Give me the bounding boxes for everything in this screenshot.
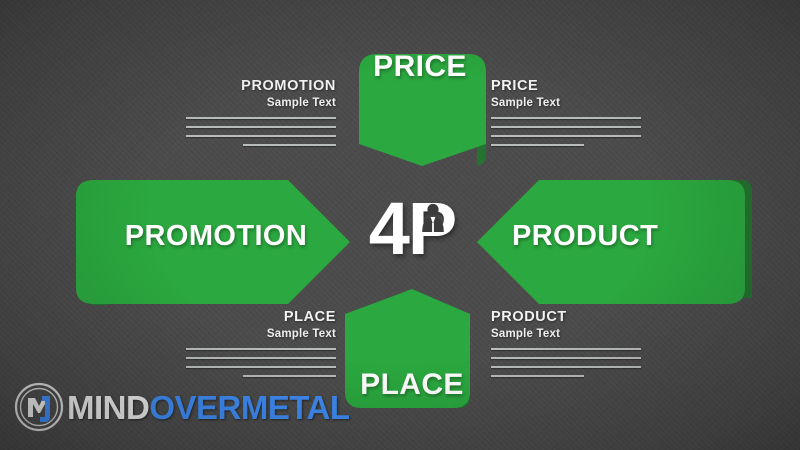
center-logo-4p: 4P (352, 186, 472, 272)
caption-rule (491, 348, 641, 350)
businessman-icon (420, 202, 446, 232)
caption-rule (491, 366, 641, 368)
caption-title: PRICE (491, 78, 641, 95)
caption-subtitle: Sample Text (186, 97, 336, 110)
slide-canvas: PRICE PROMOTION PRODUCT PLACE 4P PROMOTI… (0, 0, 800, 450)
banner-label-product: PRODUCT (512, 220, 752, 253)
watermark-logo[interactable]: MINDOVERMETAL (14, 381, 350, 433)
banner-label-place: PLACE (337, 368, 487, 402)
caption-place: PLACE Sample Text (186, 309, 336, 384)
caption-rule-group (186, 348, 336, 377)
mindovermetal-badge-icon (14, 382, 64, 432)
caption-rule (491, 135, 641, 137)
banner-label-promotion: PROMOTION (96, 220, 336, 253)
caption-rule (243, 144, 336, 146)
caption-rule-group (491, 117, 641, 146)
caption-subtitle: Sample Text (491, 97, 641, 110)
caption-subtitle: Sample Text (186, 328, 336, 341)
caption-rule (186, 357, 336, 359)
caption-rule-group (491, 348, 641, 377)
caption-rule (491, 375, 584, 377)
watermark-brand-text: MINDOVERMETAL (67, 391, 350, 424)
caption-price: PRICE Sample Text (491, 78, 641, 153)
banner-label-price: PRICE (345, 50, 495, 84)
caption-rule (186, 126, 336, 128)
caption-rule (491, 357, 641, 359)
caption-promotion: PROMOTION Sample Text (186, 78, 336, 153)
caption-rule (186, 348, 336, 350)
brand-part-1: MIND (67, 389, 149, 426)
caption-rule (491, 144, 584, 146)
caption-title: PROMOTION (186, 78, 336, 95)
caption-rule-group (186, 117, 336, 146)
caption-rule (186, 135, 336, 137)
caption-title: PRODUCT (491, 309, 641, 326)
caption-subtitle: Sample Text (491, 328, 641, 341)
caption-rule (186, 366, 336, 368)
caption-rule (243, 375, 336, 377)
caption-title: PLACE (186, 309, 336, 326)
caption-rule (491, 117, 641, 119)
caption-rule (186, 117, 336, 119)
caption-product: PRODUCT Sample Text (491, 309, 641, 384)
brand-part-2: OVERMETAL (149, 389, 349, 426)
caption-rule (491, 126, 641, 128)
center-4p-text: 4P (352, 186, 472, 272)
